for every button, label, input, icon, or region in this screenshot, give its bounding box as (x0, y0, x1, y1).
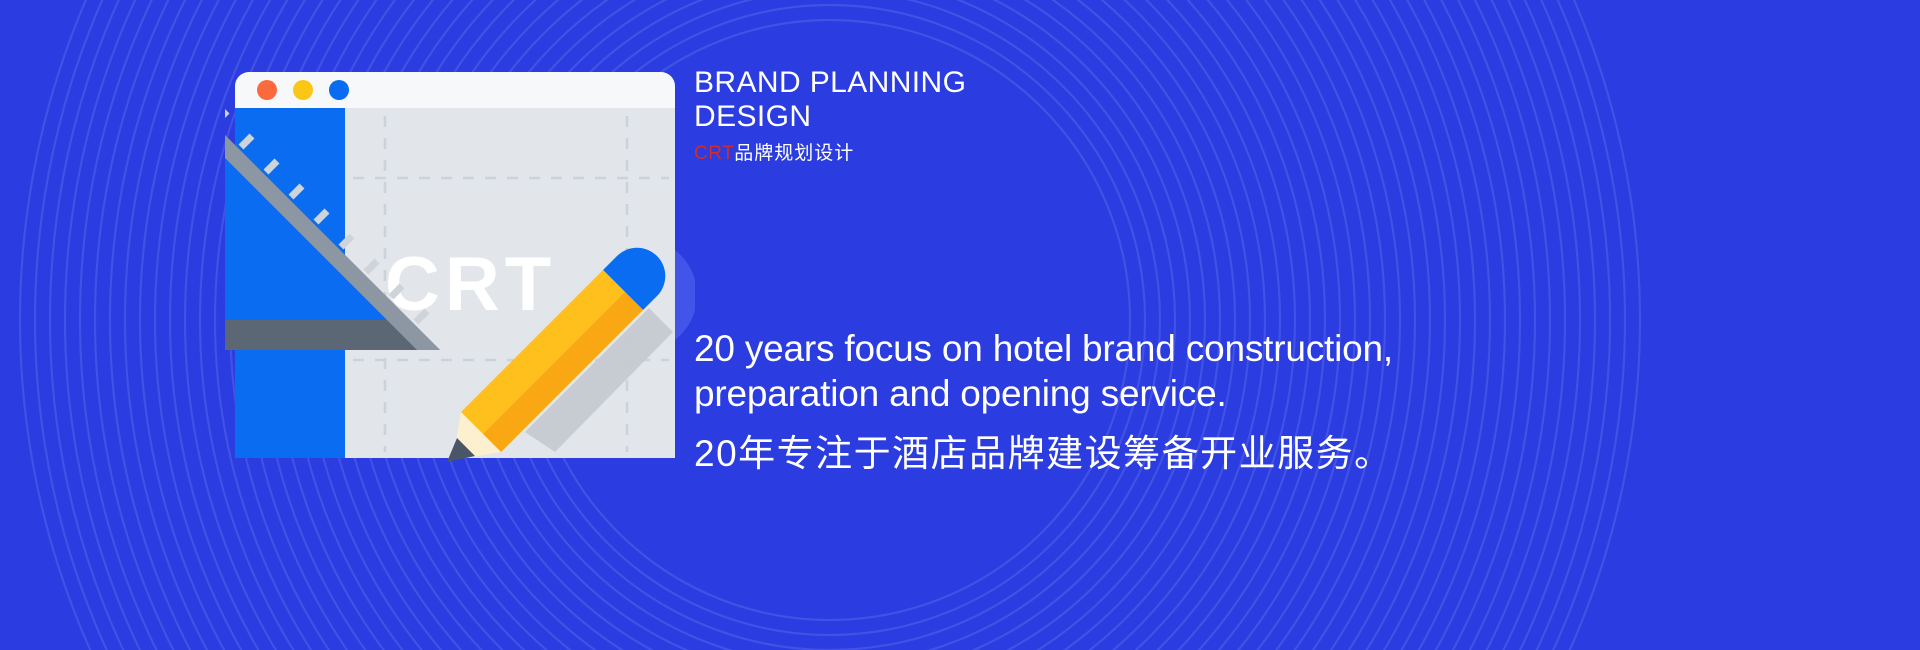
close-dot (257, 80, 277, 100)
heading-english: BRAND PLANNING DESIGN (694, 66, 1794, 134)
brand-mark-crt: CRT (694, 143, 734, 164)
minimize-dot (293, 80, 313, 100)
promo-banner: CRT (0, 0, 1920, 650)
tagline-chinese: 20年专注于酒店品牌建设筹备开业服务。 (694, 431, 1754, 477)
document-watermark: CRT (385, 242, 556, 327)
heading-chinese: 品牌规划设计 (734, 143, 854, 164)
maximize-dot (329, 80, 349, 100)
tagline-english: 20 years focus on hotel brand constructi… (694, 326, 1754, 416)
heading-chinese-row: CRT品牌规划设计 (694, 143, 1794, 165)
text-column: BRAND PLANNING DESIGN CRT品牌规划设计 20 years… (694, 66, 1794, 586)
tagline-block: 20 years focus on hotel brand constructi… (694, 326, 1754, 477)
brand-design-illustration: CRT (225, 60, 695, 480)
